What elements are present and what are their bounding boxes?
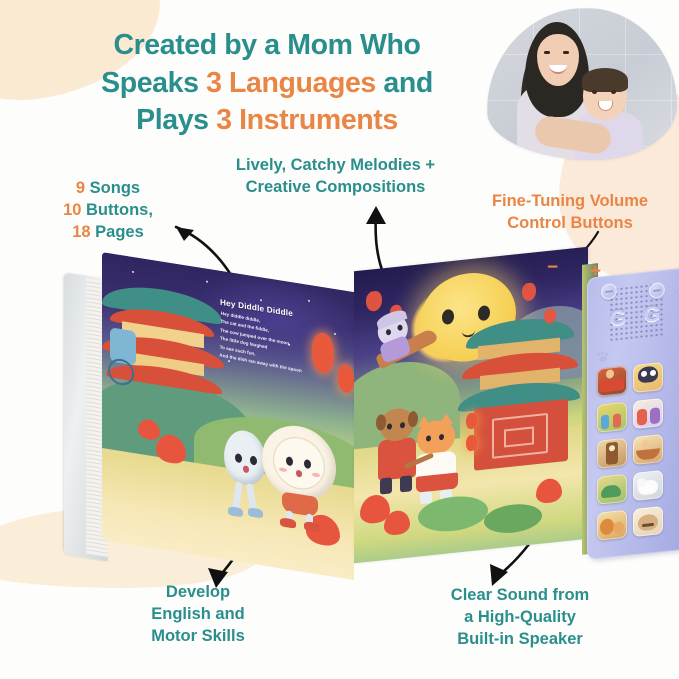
buttons-label: Buttons,: [81, 201, 153, 219]
develop-line-2: English and: [151, 605, 245, 623]
develop-line-1: Develop: [166, 583, 230, 601]
headline-line-1-part-b: Mom Who: [287, 29, 420, 61]
song-button-2[interactable]: [633, 362, 663, 393]
photo-blob-mask: [487, 8, 677, 160]
song-button-5[interactable]: [597, 438, 627, 469]
cat-character: [414, 418, 462, 509]
pagoda-illustration-right: [462, 313, 582, 476]
melodies-line-1: Lively, Catchy Melodies +: [236, 156, 435, 174]
melodies-line-2: Creative Compositions: [246, 178, 426, 196]
headline-line-2-part-c: and: [376, 67, 433, 99]
callout-volume: Fine-Tuning Volume Control Buttons: [465, 191, 675, 235]
callout-clear-sound: Clear Sound from a High-Quality Built-in…: [410, 585, 630, 650]
pages-label: Pages: [91, 223, 144, 241]
callout-melodies: Lively, Catchy Melodies + Creative Compo…: [208, 155, 463, 199]
book-left-page: Hey Diddle Diddle Hey diddle diddle, The…: [102, 252, 354, 580]
floating-lantern-3: [522, 282, 536, 301]
songs-label: Songs: [85, 179, 140, 197]
sound-module-panel[interactable]: G G: [587, 266, 679, 560]
song-button-10[interactable]: [633, 506, 663, 537]
sound-line-3: Built-in Speaker: [457, 630, 583, 648]
baby-eye-right: [611, 90, 616, 94]
headline-instruments-count: 3: [216, 104, 231, 136]
paw-print-icon-1: [675, 289, 679, 300]
sound-line-1: Clear Sound from: [451, 586, 589, 604]
song-button-9[interactable]: [597, 510, 627, 541]
headline-line-1-part-a: Created by a: [113, 29, 287, 61]
paw-print-icon-4: [675, 431, 679, 442]
song-button-4[interactable]: [633, 398, 663, 429]
headline-line-2-part-a: Speaks: [101, 67, 206, 99]
song-button-3[interactable]: [597, 402, 627, 433]
headline-line-3-part-a: Plays: [136, 104, 216, 136]
paw-print-icon-3: [675, 379, 679, 390]
spoon-head: [224, 427, 266, 488]
page-title: Created by a Mom Who Speaks 3 Languages …: [62, 27, 472, 140]
callout-specs: 9 Songs 10 Buttons, 18 Pages: [38, 178, 178, 243]
mom-and-baby-photo: [487, 8, 677, 160]
paw-print-icon-5: [597, 352, 609, 363]
volume-line-1: Fine-Tuning Volume: [492, 192, 648, 210]
develop-line-3: Motor Skills: [151, 627, 245, 645]
headline-languages-word: Languages: [222, 67, 376, 99]
paw-print-icon-2: [675, 329, 679, 340]
baby-hair: [582, 68, 628, 92]
sound-book-product: Hey Diddle Diddle Hey diddle diddle, The…: [58, 256, 670, 571]
song-button-8[interactable]: [633, 470, 663, 501]
callout-develop-skills: Develop English and Motor Skills: [98, 582, 298, 647]
baby-eye-left: [592, 90, 597, 94]
volume-up-label: +: [590, 262, 601, 281]
volume-line-2: Control Buttons: [507, 214, 633, 232]
song-button-6[interactable]: [633, 434, 663, 465]
book-right-page: [354, 247, 588, 564]
sound-line-2: a High-Quality: [464, 608, 576, 626]
song-button-1[interactable]: [597, 366, 627, 397]
song-button-7[interactable]: [597, 474, 627, 505]
mom-eye-right: [563, 51, 569, 54]
dog-coat: [378, 437, 416, 481]
pages-count: 18: [72, 223, 90, 241]
mom-eye-left: [544, 51, 550, 54]
dish-character: [262, 420, 338, 537]
headline-languages-count: 3: [206, 67, 221, 99]
buttons-count: 10: [63, 201, 81, 219]
floating-lantern-1: [366, 290, 382, 312]
headline-instruments-word: Instruments: [232, 104, 398, 136]
volume-down-label: −: [547, 258, 558, 277]
infographic-canvas: Created by a Mom Who Speaks 3 Languages …: [0, 0, 679, 679]
songs-count: 9: [76, 179, 85, 197]
